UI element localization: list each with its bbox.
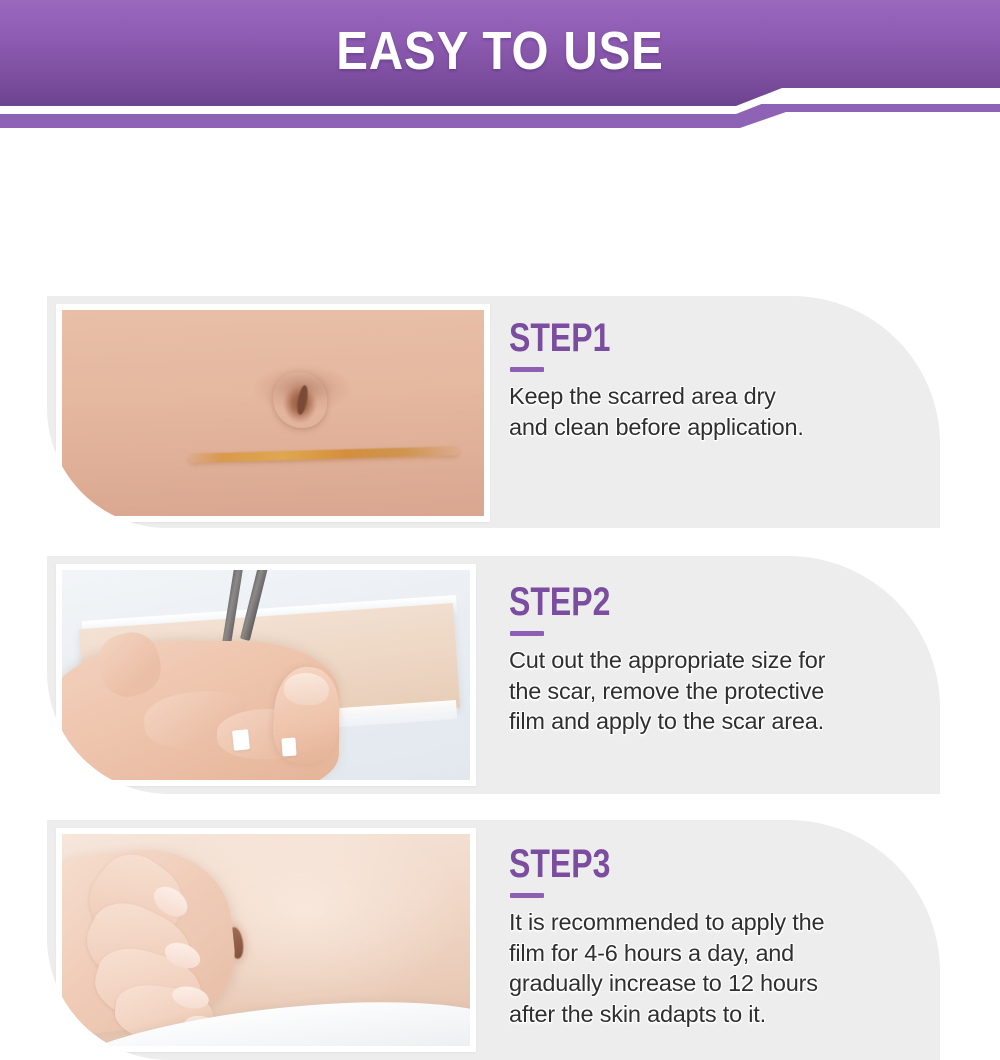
applying-film-to-abdomen-photo: [62, 834, 470, 1046]
cutting-silicone-sheet-photo: [62, 570, 470, 780]
step-3-text-block: STEP3 It is recommended to apply the fil…: [509, 844, 924, 1029]
step-3-line-4: after the skin adapts to it.: [509, 999, 924, 1030]
step-card-1: STEP1 Keep the scarred area dry and clea…: [47, 296, 940, 528]
step-2-line-3: film and apply to the scar area.: [509, 706, 924, 737]
step-3-photo-frame: [56, 828, 476, 1052]
step-3-description: It is recommended to apply the film for …: [509, 907, 924, 1029]
step-1-label: STEP1: [509, 318, 841, 358]
step-1-line-2: and clean before application.: [509, 412, 924, 443]
scarred-abdomen-photo: [62, 310, 484, 516]
film-tab-2-detail: [282, 738, 297, 757]
step-1-photo-frame: [56, 304, 490, 522]
step-2-line-2: the scar, remove the protective: [509, 676, 924, 707]
step-card-2: STEP2 Cut out the appropriate size for t…: [47, 556, 940, 794]
step-card-2-inner: STEP2 Cut out the appropriate size for t…: [47, 556, 940, 794]
step-3-line-2: film for 4-6 hours a day, and: [509, 938, 924, 969]
step-card-1-inner: STEP1 Keep the scarred area dry and clea…: [47, 296, 940, 528]
step-card-3: STEP3 It is recommended to apply the fil…: [47, 820, 940, 1060]
step-3-divider: [510, 893, 544, 898]
step-1-description: Keep the scarred area dry and clean befo…: [509, 381, 924, 442]
step-3-line-3: gradually increase to 12 hours: [509, 968, 924, 999]
header-accent-bar: [0, 104, 1000, 128]
step-3-label: STEP3: [509, 844, 841, 884]
step-card-3-inner: STEP3 It is recommended to apply the fil…: [47, 820, 940, 1060]
step-2-line-1: Cut out the appropriate size for: [509, 645, 924, 676]
step-1-divider: [510, 367, 544, 372]
navel-detail: [273, 372, 327, 428]
step-2-divider: [510, 631, 544, 636]
step-1-line-1: Keep the scarred area dry: [509, 381, 924, 412]
step-1-text-block: STEP1 Keep the scarred area dry and clea…: [509, 318, 924, 442]
step-2-label: STEP2: [509, 582, 841, 622]
film-tab-1-detail: [232, 729, 250, 751]
step-3-line-1: It is recommended to apply the: [509, 907, 924, 938]
page-title: EASY TO USE: [60, 20, 940, 82]
page-header: EASY TO USE: [0, 0, 1000, 128]
step-2-photo-frame: [56, 564, 476, 786]
step-2-text-block: STEP2 Cut out the appropriate size for t…: [509, 582, 924, 737]
step-2-description: Cut out the appropriate size for the sca…: [509, 645, 924, 737]
